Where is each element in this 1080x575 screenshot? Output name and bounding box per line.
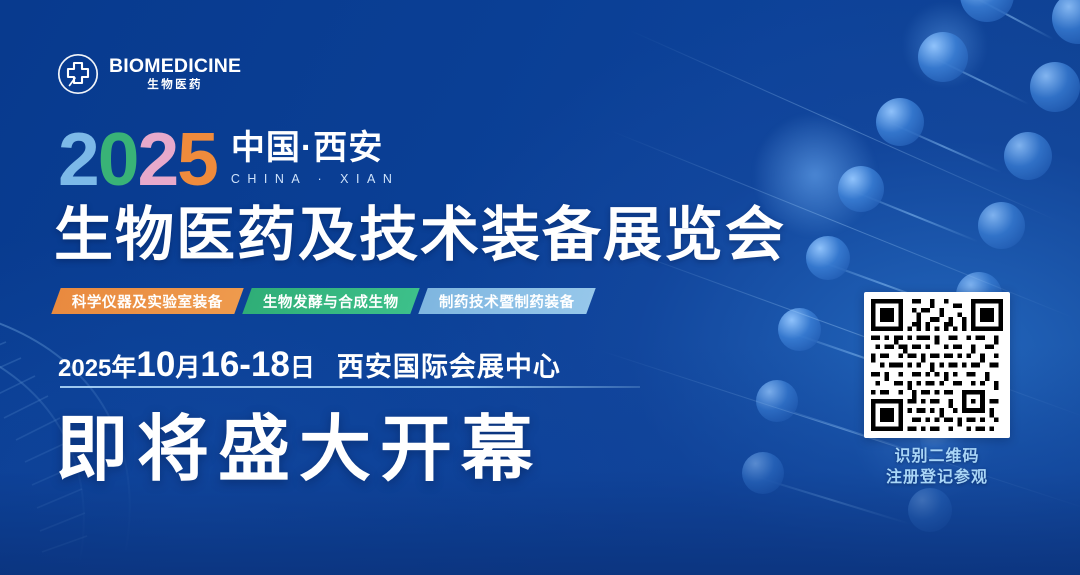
qr-caption: 识别二维码 注册登记参观	[864, 447, 1010, 489]
date-days: 16-18	[200, 345, 290, 385]
exhibition-poster: BIOMEDICINE 生物医药 2 0 2 5 中国·西安 CHINA · X…	[0, 0, 1080, 575]
category-ribbon-fermentation: 生物发酵与合成生物	[242, 288, 419, 314]
event-date-and-venue: 2025 年 10 月 16-18 日 西安国际会展中心	[58, 345, 561, 385]
year-digit-4: 5	[177, 128, 217, 191]
city-english: CHINA · XIAN	[231, 172, 400, 186]
date-year: 2025	[58, 355, 111, 383]
logo-english-name: BIOMEDICINE	[109, 57, 241, 77]
logo-chinese-name: 生物医药	[147, 80, 203, 92]
date-year-unit: 年	[111, 348, 136, 384]
event-slogan: 即将盛大开幕	[56, 414, 542, 486]
category-ribbon-label: 制药技术暨制药装备	[439, 291, 575, 312]
date-day-unit: 日	[290, 348, 315, 384]
dna-helix-3d-decoration	[600, 0, 1080, 575]
year-and-city: 2 0 2 5 中国·西安 CHINA · XIAN	[58, 128, 399, 191]
city-chinese: 中国·西安	[231, 131, 400, 165]
brand-logo: BIOMEDICINE 生物医药	[56, 52, 241, 96]
date-month-unit: 月	[175, 348, 200, 384]
qr-caption-line-1: 识别二维码	[864, 447, 1010, 468]
page-title: 生物医药及技术装备展览会	[54, 205, 786, 267]
divider-line	[60, 386, 640, 388]
year-digit-1: 2	[58, 128, 98, 191]
year-2025: 2 0 2 5	[58, 128, 217, 191]
date-month: 10	[136, 345, 175, 385]
qr-registration-block[interactable]: 识别二维码 注册登记参观	[864, 292, 1010, 489]
medical-cross-circle-icon	[56, 52, 100, 96]
event-venue: 西安国际会展中心	[337, 345, 561, 384]
category-ribbons: 科学仪器及实验室装备 生物发酵与合成生物 制药技术暨制药装备	[56, 288, 599, 314]
city-block: 中国·西安 CHINA · XIAN	[231, 131, 400, 186]
category-ribbon-label: 生物发酵与合成生物	[263, 291, 399, 312]
year-digit-3: 2	[137, 128, 177, 191]
year-digit-2: 0	[98, 128, 138, 191]
qr-caption-line-2: 注册登记参观	[864, 468, 1010, 489]
category-ribbon-pharma: 制药技术暨制药装备	[418, 288, 595, 314]
category-ribbon-label: 科学仪器及实验室装备	[72, 291, 223, 312]
qr-code-icon[interactable]	[864, 292, 1010, 438]
category-ribbon-instruments: 科学仪器及实验室装备	[51, 288, 243, 314]
